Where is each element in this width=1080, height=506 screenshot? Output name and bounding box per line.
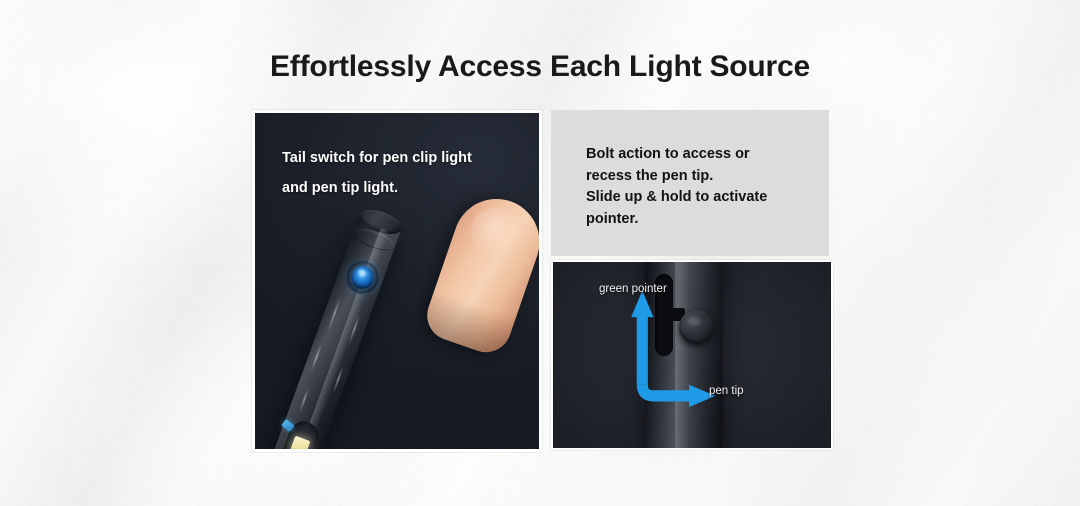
right-column: Bolt action to access or recess the pen … [551,110,829,446]
barrel-highlight-1 [327,297,341,332]
bolt-action-instructions-panel: Bolt action to access or recess the pen … [551,110,829,256]
left-caption-line-2: and pen tip light. [282,173,522,203]
finger-shadow [420,289,516,359]
bolt-knob [679,310,713,344]
pen-tip-label: pen tip [709,385,744,397]
left-image-panel: Tail switch for pen clip light and pen t… [252,110,542,452]
pen-barrel [261,213,402,449]
bolt-barrel-sheen [675,262,689,448]
right-caption-line-4: pointer. [586,209,816,231]
right-caption-line-3: Slide up & hold to activate [586,187,816,209]
finger [420,187,539,359]
white-led-chip [290,436,310,449]
page-title: Effortlessly Access Each Light Source [0,50,1080,84]
barrel-highlight-3 [299,388,310,413]
led-blue-glint-1 [281,419,295,432]
bolt-action-image-panel: green pointer pen tip [551,260,833,450]
right-caption-line-1: Bolt action to access or [586,144,816,166]
barrel-highlight-2 [310,344,322,373]
left-panel-caption: Tail switch for pen clip light and pen t… [282,143,522,203]
left-caption-line-1: Tail switch for pen clip light [282,143,522,173]
bolt-action-photo: green pointer pen tip [553,262,831,448]
finger-highlight [464,201,527,263]
right-caption-line-2: recess the pen tip. [586,166,816,188]
right-panel-caption: Bolt action to access or recess the pen … [586,144,816,230]
tail-switch-photo: Tail switch for pen clip light and pen t… [255,113,539,449]
barrel-sheen [284,227,390,449]
green-pointer-label: green pointer [599,283,667,295]
